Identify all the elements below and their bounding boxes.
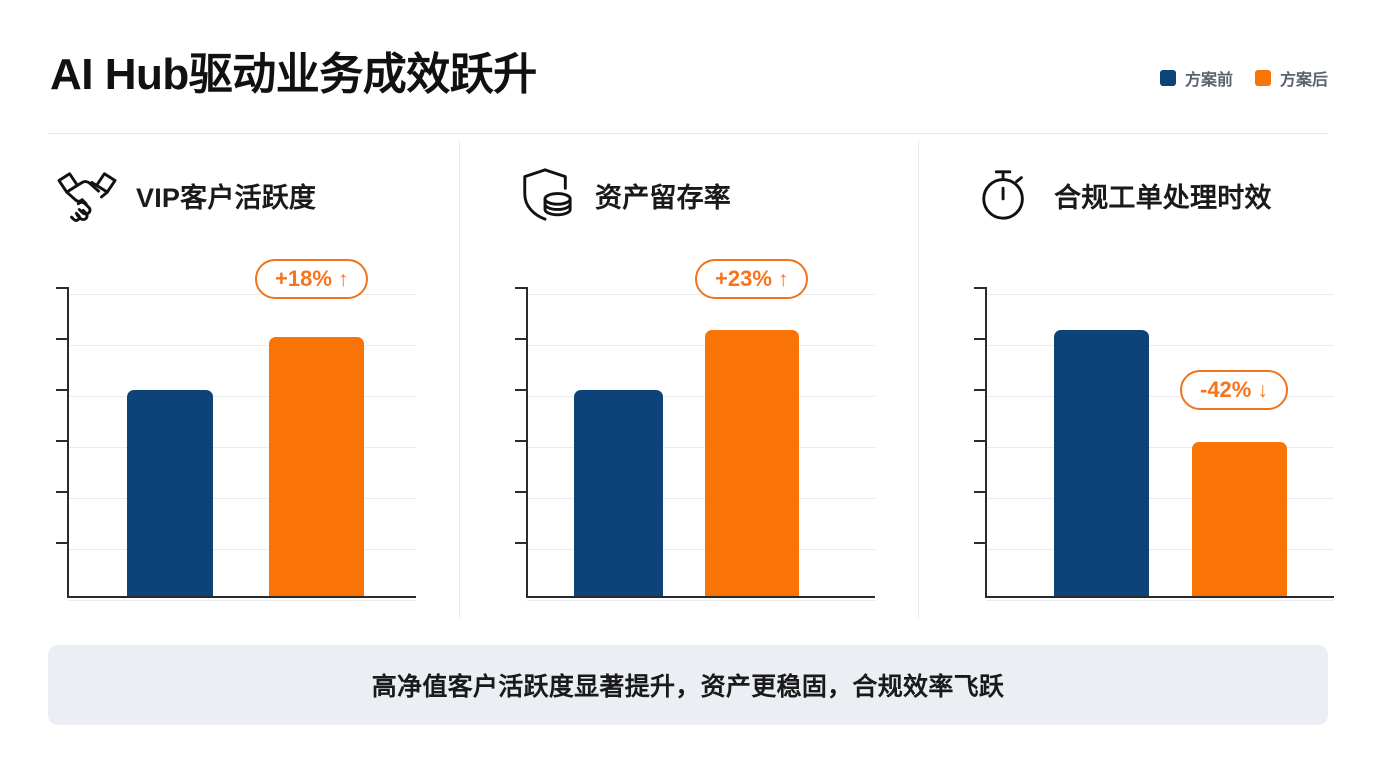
x-axis xyxy=(67,596,416,598)
gridline xyxy=(68,294,416,295)
status-badge-2: +23% ↑ xyxy=(695,259,808,299)
header: AI Hub驱动业务成效跃升 方案前 方案后 xyxy=(0,0,1376,133)
square-swatch-navy xyxy=(1160,70,1176,86)
y-axis-tick xyxy=(56,440,69,442)
arrow-up-icon: ↑ xyxy=(778,269,789,290)
panel-header-2: 资产留存率 xyxy=(515,162,731,228)
y-axis xyxy=(526,287,528,598)
panel-header-3: 合规工单处理时效 xyxy=(974,162,1272,228)
arrow-down-icon: ↓ xyxy=(1257,380,1268,401)
arrow-up-icon: ↑ xyxy=(338,269,349,290)
badge-value-3: -42% xyxy=(1200,377,1251,403)
y-axis-tick xyxy=(974,491,987,493)
y-axis-tick xyxy=(974,287,987,289)
y-axis-tick xyxy=(974,338,987,340)
y-axis-tick xyxy=(974,440,987,442)
y-axis-tick xyxy=(515,338,528,340)
shield-coins-icon xyxy=(515,167,577,223)
legend-label-before: 方案前 xyxy=(1185,66,1233,90)
summary-banner-text: 高净值客户活跃度显著提升，资产更稳固，合规效率飞跃 xyxy=(372,667,1005,703)
y-axis-tick xyxy=(515,491,528,493)
chart-asset-retention: +23% ↑ xyxy=(515,280,875,600)
x-axis xyxy=(985,596,1334,598)
panel-title-2: 资产留存率 xyxy=(595,176,731,215)
status-badge-1: +18% ↑ xyxy=(255,259,368,299)
y-axis-tick xyxy=(515,287,528,289)
legend-item-after: 方案后 xyxy=(1255,66,1328,90)
status-badge-3: -42% ↓ xyxy=(1180,370,1288,410)
bar-after-1[interactable] xyxy=(269,337,364,596)
x-axis xyxy=(526,596,875,598)
badge-value-1: +18% xyxy=(275,266,332,292)
gridline xyxy=(527,600,875,601)
gridline xyxy=(986,294,1334,295)
bar-after-2[interactable] xyxy=(705,330,799,596)
y-axis-tick xyxy=(974,542,987,544)
square-swatch-orange xyxy=(1255,70,1271,86)
panels-container: VIP客户活跃度 +18% ↑ xyxy=(0,140,1376,620)
legend-label-after: 方案后 xyxy=(1280,66,1328,90)
stopwatch-icon xyxy=(974,167,1036,223)
chart-vip-activity: +18% ↑ xyxy=(56,280,416,600)
legend-item-before: 方案前 xyxy=(1160,66,1233,90)
panel-asset-retention: 资产留存率 +23% ↑ xyxy=(459,140,918,620)
y-axis-tick xyxy=(56,389,69,391)
page-title: AI Hub驱动业务成效跃升 xyxy=(50,38,537,102)
gridline xyxy=(68,600,416,601)
bar-before-1[interactable] xyxy=(127,390,213,596)
bar-after-3[interactable] xyxy=(1192,442,1287,596)
y-axis-tick xyxy=(515,389,528,391)
legend: 方案前 方案后 xyxy=(1160,66,1328,90)
bar-before-2[interactable] xyxy=(574,390,663,596)
handshake-icon xyxy=(56,167,118,223)
y-axis-tick xyxy=(56,338,69,340)
y-axis xyxy=(985,287,987,598)
y-axis-tick xyxy=(56,287,69,289)
gridline xyxy=(986,345,1334,346)
bar-before-3[interactable] xyxy=(1054,330,1149,596)
y-axis-tick xyxy=(515,542,528,544)
y-axis xyxy=(67,287,69,598)
summary-banner: 高净值客户活跃度显著提升，资产更稳固，合规效率飞跃 xyxy=(48,645,1328,725)
gridline xyxy=(527,345,875,346)
badge-value-2: +23% xyxy=(715,266,772,292)
panel-vip-activity: VIP客户活跃度 +18% ↑ xyxy=(0,140,459,620)
y-axis-tick xyxy=(974,389,987,391)
panel-title-1: VIP客户活跃度 xyxy=(136,176,316,215)
chart-compliance-sla: -42% ↓ xyxy=(974,280,1334,600)
y-axis-tick xyxy=(515,440,528,442)
y-axis-tick xyxy=(56,491,69,493)
header-divider xyxy=(48,133,1328,134)
panel-compliance-sla: 合规工单处理时效 -42% ↓ xyxy=(918,140,1376,620)
gridline xyxy=(986,600,1334,601)
panel-header-1: VIP客户活跃度 xyxy=(56,162,316,228)
y-axis-tick xyxy=(56,542,69,544)
panel-title-3: 合规工单处理时效 xyxy=(1054,176,1272,215)
